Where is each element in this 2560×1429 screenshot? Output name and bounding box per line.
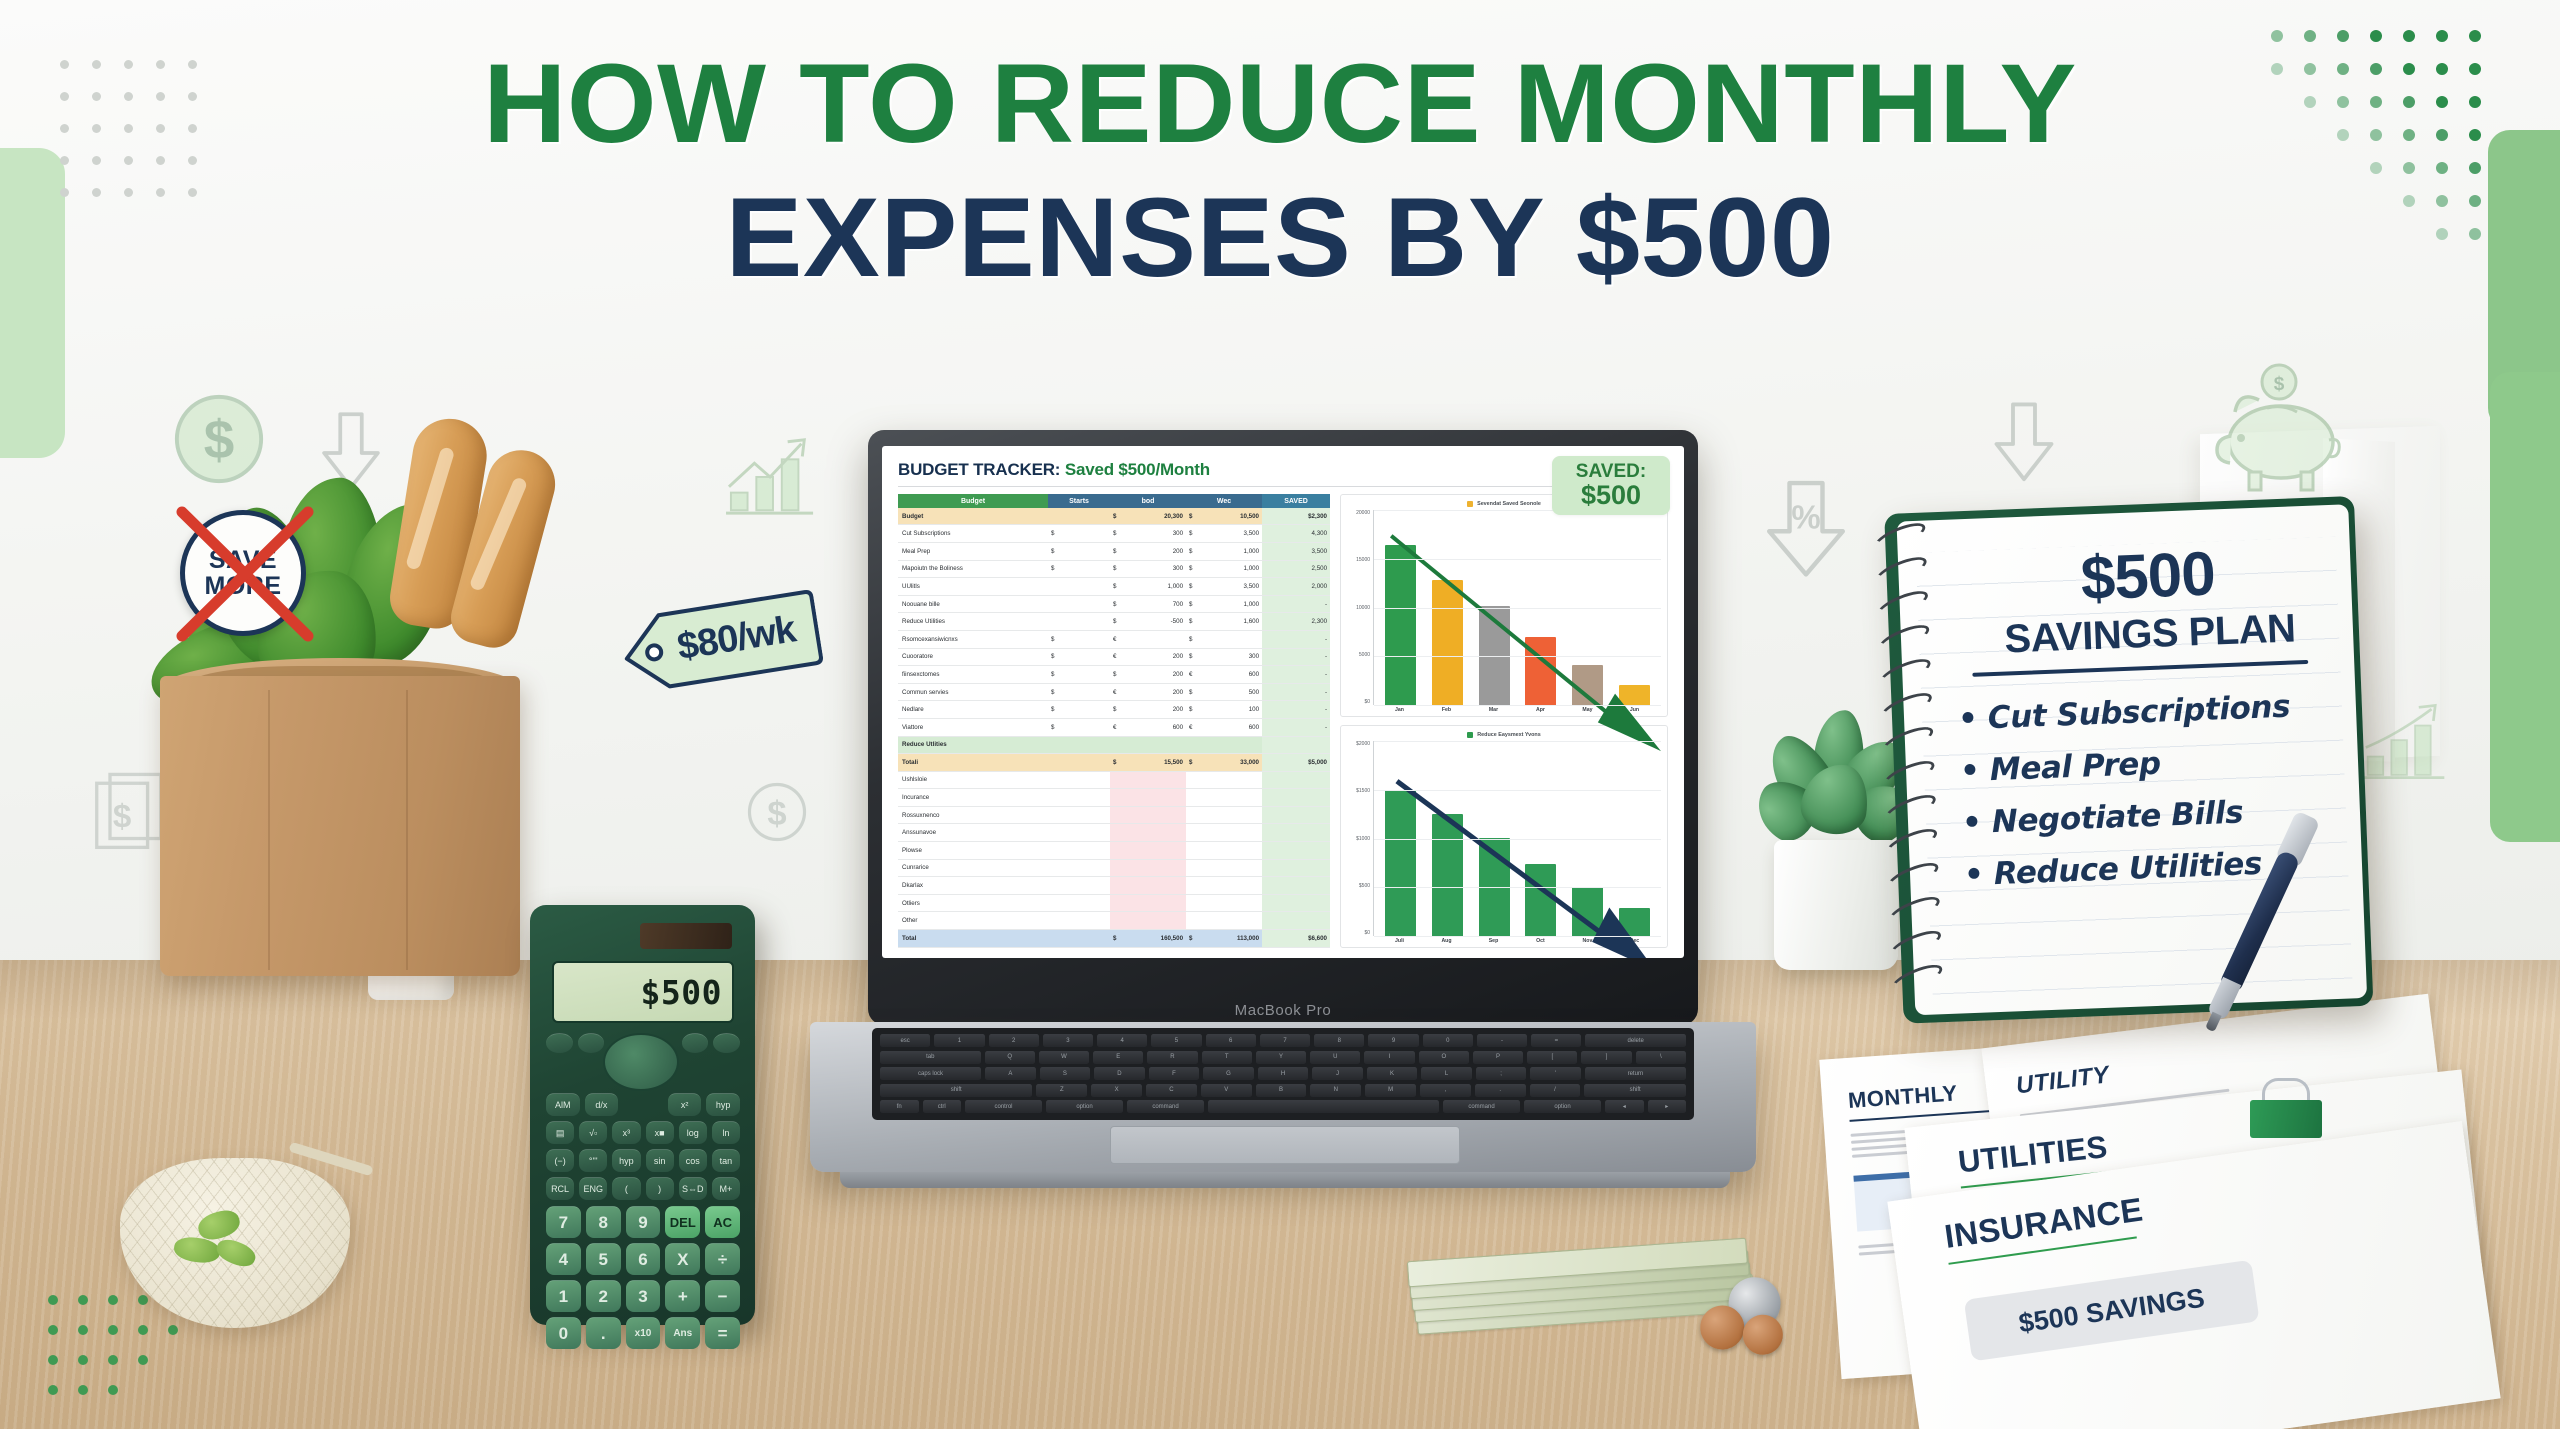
calc-key-ln[interactable]: ln <box>712 1121 740 1144</box>
calc-key-7[interactable]: 7 <box>546 1206 581 1238</box>
chart-reduce-payment[interactable]: Reduce Eaysmext Yvons $2000$1500$1000$50… <box>1340 725 1668 948</box>
table-cell: 600 <box>1124 718 1186 736</box>
calc-key-4[interactable]: 4 <box>546 1243 581 1275</box>
table-cell <box>1200 630 1262 648</box>
chart-2-legend-label: Reduce Eaysmext Yvons <box>1477 732 1540 738</box>
table-cell: UUlitls <box>898 578 1048 596</box>
table-cell: 100 <box>1200 701 1262 719</box>
grid-line <box>1374 936 1661 937</box>
bar-chart-up-icon-2 <box>2360 700 2452 784</box>
calc-key-divide[interactable]: ÷ <box>705 1243 740 1275</box>
table-cell <box>1110 771 1124 789</box>
table-cell: - <box>1262 701 1330 719</box>
grid-line <box>1374 839 1661 840</box>
table-cell <box>1124 894 1186 912</box>
calc-key-minus[interactable]: − <box>705 1280 740 1312</box>
table-cell: Meal Prep <box>898 542 1048 560</box>
calc-key-5[interactable]: 5 <box>586 1243 621 1275</box>
grid-line <box>1374 608 1661 609</box>
bag-fold <box>268 690 270 970</box>
table-cell: $ <box>1186 508 1200 525</box>
table-cell: $ <box>1186 648 1200 666</box>
budget-table[interactable]: BudgetStartsbodWecSAVED Budget$20,300$10… <box>898 494 1330 948</box>
bag-body <box>160 676 520 976</box>
spiral-coil <box>1883 824 1940 861</box>
charts-column: Sevendat Saved Seonole 20000150001000050… <box>1340 494 1668 948</box>
table-cell <box>1048 595 1110 613</box>
table-cell: 1,000 <box>1200 560 1262 578</box>
table-row[interactable]: Totali$15,500$33,000$5,000 <box>898 754 1330 772</box>
calc-key-hyp[interactable]: hyp <box>706 1093 740 1116</box>
table-cell <box>1110 877 1124 895</box>
table-cell: fiinsexctomes <box>898 666 1048 684</box>
grid-line <box>1374 559 1661 560</box>
table-cell: 3,500 <box>1262 542 1330 560</box>
laptop-trackpad[interactable] <box>1110 1126 1460 1164</box>
table-cell: $ <box>1110 525 1124 543</box>
table-cell <box>1262 824 1330 842</box>
spiral-coil <box>1885 858 1942 895</box>
table-cell: $ <box>1186 613 1200 631</box>
table-cell <box>1110 806 1124 824</box>
table-cell: Otliers <box>898 894 1048 912</box>
table-cell: 300 <box>1124 560 1186 578</box>
table-row[interactable]: Meal Prep$$200$1,0003,500 <box>898 542 1330 560</box>
spiral-coil <box>1889 960 1946 997</box>
bag-fold <box>406 690 408 970</box>
table-cell: 3,500 <box>1200 525 1262 543</box>
calc-key-frac[interactable]: ▤ <box>546 1121 574 1144</box>
table-cell <box>1048 877 1110 895</box>
table-cell: - <box>1262 648 1330 666</box>
table-cell: - <box>1262 630 1330 648</box>
table-cell <box>1200 789 1262 807</box>
coin-copper-2 <box>1741 1313 1784 1356</box>
table-cell: 3,500 <box>1200 578 1262 596</box>
calc-key-equals[interactable]: = <box>705 1317 740 1349</box>
calc-key-paren-open[interactable]: ( <box>612 1177 640 1200</box>
spreadsheet-body: BudgetStartsbodWecSAVED Budget$20,300$10… <box>898 494 1668 948</box>
laptop-base: esc1234567890-=delete tabQWERTYUIOP[]\ c… <box>810 1022 1756 1172</box>
table-cell: 33,000 <box>1200 754 1262 772</box>
mesh-produce-bag <box>100 1130 390 1340</box>
table-row[interactable]: UUlitls$1,000$3,5002,000 <box>898 578 1330 596</box>
calc-key-sqrt[interactable]: √▫ <box>579 1121 607 1144</box>
calc-key-del[interactable]: DEL <box>665 1206 700 1238</box>
table-header-row: BudgetStartsbodWecSAVED <box>898 494 1330 508</box>
chart-2-yaxis: $2000$1500$1000$500$0 <box>1347 741 1373 936</box>
table-cell <box>1048 930 1110 948</box>
y-tick-label: $1500 <box>1347 788 1370 794</box>
saved-badge: SAVED: $500 <box>1552 456 1670 515</box>
calc-key-ac[interactable]: AC <box>705 1206 740 1238</box>
table-cell: Cunrarice <box>898 859 1048 877</box>
table-cell <box>1200 842 1262 860</box>
table-cell: - <box>1262 595 1330 613</box>
table-row[interactable]: Dkarlax <box>898 877 1330 895</box>
table-cell: Rsomcexansiwicnxs <box>898 630 1048 648</box>
table-cell <box>1262 859 1330 877</box>
table-cell <box>1048 736 1110 754</box>
table-cell: Mapoiutn the Boliness <box>898 560 1048 578</box>
chart-bar <box>1385 790 1416 936</box>
table-cell: $ <box>1110 578 1124 596</box>
calc-key-mode[interactable] <box>682 1033 709 1053</box>
table-cell: 1,000 <box>1200 595 1262 613</box>
chart-1-yaxis: 2000015000100005000$0 <box>1347 510 1373 705</box>
table-cell <box>1200 806 1262 824</box>
table-cell: $ <box>1110 613 1124 631</box>
table-row[interactable]: Anssunavoe <box>898 824 1330 842</box>
chart-2-plot: $2000$1500$1000$500$0 <box>1347 741 1661 936</box>
table-cell <box>1186 842 1200 860</box>
table-cell <box>1110 824 1124 842</box>
table-cell <box>1200 894 1262 912</box>
spiral-coil <box>1874 586 1931 623</box>
table-row[interactable]: fiinsexctomes$$200€600- <box>898 666 1330 684</box>
chart-bar <box>1432 814 1463 936</box>
table-cell: 200 <box>1124 648 1186 666</box>
spiral-coil <box>1877 654 1934 691</box>
table-row[interactable]: Budget$20,300$10,500$2,300 <box>898 508 1330 525</box>
table-cell: 700 <box>1124 595 1186 613</box>
spiral-coil <box>1882 790 1939 827</box>
table-header-0: Budget <box>898 494 1048 508</box>
table-cell: Cut Subscriptions <box>898 525 1048 543</box>
calc-key-hyp2[interactable]: hyp <box>612 1149 640 1172</box>
table-row[interactable]: Nedlare$$200$100- <box>898 701 1330 719</box>
calc-key-tan[interactable]: tan <box>712 1149 740 1172</box>
calc-key-neg[interactable]: (−) <box>546 1149 574 1172</box>
table-cell: Commun servies <box>898 683 1048 701</box>
table-cell <box>1048 912 1110 930</box>
spiral-coil <box>1876 620 1933 657</box>
calc-key-6[interactable]: 6 <box>626 1243 661 1275</box>
grid-line <box>1374 741 1661 742</box>
calc-key-dx[interactable]: d/x <box>585 1093 619 1116</box>
calculator-keypad[interactable]: AlM d/x x² hyp ▤ √▫ x³ x■ log ln (−) °''… <box>546 1033 740 1354</box>
calc-key-2[interactable]: 2 <box>586 1280 621 1312</box>
table-cell <box>1186 877 1200 895</box>
chart-bar <box>1525 864 1556 936</box>
headline-line-2: EXPENSES BY $500 <box>0 182 2560 294</box>
calc-key-ans[interactable]: Ans <box>665 1317 700 1349</box>
table-cell <box>1048 613 1110 631</box>
x-tick-label: Oct <box>1525 938 1556 944</box>
table-cell <box>1262 789 1330 807</box>
calc-key-alm[interactable]: AlM <box>546 1093 580 1116</box>
calc-key-alpha[interactable] <box>578 1033 605 1053</box>
calc-key-dot[interactable]: . <box>586 1317 621 1349</box>
table-cell: $ <box>1048 525 1110 543</box>
spiral-coil <box>1887 926 1944 963</box>
table-cell: 200 <box>1124 542 1186 560</box>
table-cell: Other <box>898 912 1048 930</box>
grid-line <box>1374 887 1661 888</box>
table-cell <box>1110 912 1124 930</box>
table-cell: 500 <box>1200 683 1262 701</box>
table-cell: 160,500 <box>1124 930 1186 948</box>
table-cell: 20,300 <box>1124 508 1186 525</box>
svg-text:%: % <box>1791 499 1820 536</box>
table-row[interactable]: Plowse <box>898 842 1330 860</box>
table-cell: - <box>1262 683 1330 701</box>
calculator[interactable]: $500 AlM d/x x² hyp ▤ √▫ x³ x■ log ln (−… <box>530 905 755 1325</box>
table-cell <box>1124 912 1186 930</box>
calc-key-xsq[interactable]: x² <box>668 1093 702 1116</box>
laptop: BUDGET TRACKER: Saved $500/Month SAVED: … <box>780 430 1720 1260</box>
table-cell: Dkarlax <box>898 877 1048 895</box>
table-cell: Noouane bille <box>898 595 1048 613</box>
table-row[interactable]: Total$160,500$113,000$6,600 <box>898 930 1330 948</box>
table-cell: $ <box>1186 542 1200 560</box>
table-cell <box>1262 894 1330 912</box>
table-cell <box>1048 578 1110 596</box>
y-tick-label: 15000 <box>1347 557 1370 563</box>
calculator-display-value: $500 <box>641 973 722 1012</box>
chart-bar <box>1619 685 1650 705</box>
laptop-screen[interactable]: BUDGET TRACKER: Saved $500/Month SAVED: … <box>882 446 1684 958</box>
table-cell <box>1048 894 1110 912</box>
table-cell: Budget <box>898 508 1048 525</box>
table-cell <box>1048 508 1110 525</box>
table-row[interactable]: Reduce Utlities <box>898 736 1330 754</box>
table-cell <box>1110 842 1124 860</box>
table-header-3: Wec <box>1186 494 1262 508</box>
table-cell: $5,000 <box>1262 754 1330 772</box>
table-cell: 200 <box>1124 666 1186 684</box>
table-cell <box>1124 859 1186 877</box>
calc-key-sd[interactable]: S⇔D <box>679 1177 707 1200</box>
table-cell <box>1186 894 1200 912</box>
table-cell <box>1186 736 1200 754</box>
table-cell <box>1186 806 1200 824</box>
table-cell <box>1048 789 1110 807</box>
calc-key-dms[interactable]: °''' <box>579 1149 607 1172</box>
table-cell <box>1262 842 1330 860</box>
grid-line <box>1374 790 1661 791</box>
table-cell: 10,500 <box>1200 508 1262 525</box>
calc-key-rcl[interactable]: RCL <box>546 1177 574 1200</box>
chart-bar <box>1572 665 1603 705</box>
table-cell: $ <box>1186 578 1200 596</box>
table-cell: $ <box>1110 542 1124 560</box>
table-cell <box>1124 789 1186 807</box>
cross-out-icon <box>170 498 320 648</box>
table-cell <box>1124 736 1186 754</box>
legend-swatch-icon <box>1467 732 1473 738</box>
chart-2-legend: Reduce Eaysmext Yvons <box>1347 732 1661 738</box>
grid-line <box>1374 705 1661 706</box>
accent-panel-right-mid <box>2490 372 2560 842</box>
x-tick-label: Nov <box>1572 938 1603 944</box>
table-row[interactable]: Other <box>898 912 1330 930</box>
table-cell: 2,500 <box>1262 560 1330 578</box>
calc-key-cos[interactable]: cos <box>679 1149 707 1172</box>
chart-1-plotarea <box>1373 510 1661 705</box>
calc-key-9[interactable]: 9 <box>626 1206 661 1238</box>
table-row[interactable]: Mapoiutn the Boliness$$300$1,0002,500 <box>898 560 1330 578</box>
bills-papers-group: MONTHLY UTILITY UTILITIES INSURANCE $500… <box>1830 1020 2530 1420</box>
table-cell <box>1124 824 1186 842</box>
chart-2-plotarea <box>1373 741 1661 936</box>
laptop-keyboard[interactable]: esc1234567890-=delete tabQWERTYUIOP[]\ c… <box>872 1028 1694 1120</box>
x-tick-label: Aug <box>1431 938 1462 944</box>
svg-text:$: $ <box>2274 374 2285 395</box>
grid-line <box>1374 656 1661 657</box>
spiral-coil <box>1878 688 1935 725</box>
table-cell: 1,600 <box>1200 613 1262 631</box>
table-cell <box>1200 824 1262 842</box>
calc-key-plus[interactable]: + <box>665 1280 700 1312</box>
calc-key-mplus[interactable]: M+ <box>712 1177 740 1200</box>
table-cell: $ <box>1048 683 1110 701</box>
table-cell: 1,000 <box>1124 578 1186 596</box>
table-cell: 2,000 <box>1262 578 1330 596</box>
table-cell: Plowse <box>898 842 1048 860</box>
table-cell: $ <box>1048 648 1110 666</box>
table-cell: - <box>1262 718 1330 736</box>
table-cell <box>1048 842 1110 860</box>
spiral-coil <box>1879 722 1936 759</box>
table-cell: 4,300 <box>1262 525 1330 543</box>
table-cell: $ <box>1186 630 1200 648</box>
table-cell <box>1262 771 1330 789</box>
table-row[interactable]: Viattore$€600€600- <box>898 718 1330 736</box>
table-cell: Total <box>898 930 1048 948</box>
calc-key-on[interactable] <box>713 1033 740 1053</box>
table-cell: $ <box>1186 754 1200 772</box>
y-tick-label: 5000 <box>1347 652 1370 658</box>
calc-key-shift[interactable] <box>546 1033 573 1053</box>
calc-key-paren-close[interactable]: ) <box>646 1177 674 1200</box>
calc-key-exp[interactable]: x10 <box>626 1317 661 1349</box>
table-cell: $ <box>1048 701 1110 719</box>
table-cell: $ <box>1110 754 1124 772</box>
y-tick-label: $500 <box>1347 883 1370 889</box>
table-row[interactable]: Ushlsloie <box>898 771 1330 789</box>
calc-key-pow[interactable]: x■ <box>646 1121 674 1144</box>
table-cell: $ <box>1048 542 1110 560</box>
calc-key-cube[interactable]: x³ <box>612 1121 640 1144</box>
table-cell <box>1262 912 1330 930</box>
calc-key-1[interactable]: 1 <box>546 1280 581 1312</box>
table-cell <box>1110 736 1124 754</box>
table-cell: $6,600 <box>1262 930 1330 948</box>
table-row[interactable]: Commun servies$€200$500- <box>898 683 1330 701</box>
spreadsheet-title-green: Saved $500/Month <box>1065 460 1210 479</box>
table-header-4: SAVED <box>1262 494 1330 508</box>
table-cell <box>1262 806 1330 824</box>
table-cell: € <box>1186 718 1200 736</box>
table-body[interactable]: Budget$20,300$10,500$2,300Cut Subscripti… <box>898 508 1330 948</box>
table-cell: 200 <box>1124 701 1186 719</box>
spiral-coil <box>1881 756 1938 793</box>
calc-key-0[interactable]: 0 <box>546 1317 581 1349</box>
calc-key-3[interactable]: 3 <box>626 1280 661 1312</box>
plant-pot <box>1774 840 1898 970</box>
down-arrow-icon-2 <box>1990 400 2058 488</box>
table-cell <box>1048 806 1110 824</box>
table-cell: $ <box>1048 560 1110 578</box>
table-cell: Nedlare <box>898 701 1048 719</box>
chart-saved-per-month[interactable]: Sevendat Saved Seonole 20000150001000050… <box>1340 494 1668 717</box>
calc-key-8[interactable]: 8 <box>586 1206 621 1238</box>
table-cell: € <box>1110 718 1124 736</box>
table-row[interactable]: Cunrarice <box>898 859 1330 877</box>
table-cell: $ <box>1186 683 1200 701</box>
y-tick-label: $0 <box>1347 930 1370 936</box>
table-cell <box>1186 859 1200 877</box>
table-cell <box>1110 894 1124 912</box>
table-header-1: Starts <box>1048 494 1110 508</box>
savings-plan-notebook: $500 SAVINGS PLAN Cut Subscriptions Meal… <box>1870 496 2380 1034</box>
table-cell: $2,300 <box>1262 508 1330 525</box>
table-cell: € <box>1110 630 1124 648</box>
table-row[interactable]: Incurance <box>898 789 1330 807</box>
x-tick-label: May <box>1572 707 1603 713</box>
table-cell: $ <box>1048 666 1110 684</box>
table-cell <box>1110 859 1124 877</box>
table-cell <box>1124 806 1186 824</box>
table-cell <box>1124 877 1186 895</box>
table-row[interactable]: Cut Subscriptions$$300$3,5004,300 <box>898 525 1330 543</box>
calc-key-sin[interactable]: sin <box>646 1149 674 1172</box>
spiral-coil <box>1873 552 1930 589</box>
table-cell <box>1110 789 1124 807</box>
saved-badge-label: SAVED: <box>1556 462 1666 481</box>
table-cell: $ <box>1110 701 1124 719</box>
headline-block: HOW TO REDUCE MONTHLY EXPENSES BY $500 <box>0 48 2560 294</box>
table-cell: - <box>1262 666 1330 684</box>
calc-key-log[interactable]: log <box>679 1121 707 1144</box>
table-row[interactable]: Reduce Utilities$-500$1,6002,300 <box>898 613 1330 631</box>
chart-1-legend-label: Sevendat Saved Seonole <box>1477 501 1541 507</box>
chart-bar <box>1525 637 1556 705</box>
table-cell: $ <box>1186 595 1200 613</box>
piggy-bank-icon: $ <box>2205 360 2355 510</box>
calc-key-eng[interactable]: ENG <box>579 1177 607 1200</box>
table-row[interactable]: Cuooratore$€200$300- <box>898 648 1330 666</box>
table-row[interactable]: Otliers <box>898 894 1330 912</box>
table-cell: -500 <box>1124 613 1186 631</box>
table-cell: $ <box>1048 630 1110 648</box>
notebook-item-1: Meal Prep <box>1959 746 2161 790</box>
table-cell <box>1124 630 1186 648</box>
table-cell: $ <box>1110 595 1124 613</box>
calculator-solar-panel <box>640 923 732 949</box>
svg-text:$: $ <box>113 798 131 835</box>
chart-1-plot: 2000015000100005000$0 <box>1347 510 1661 705</box>
spreadsheet-title-dark: BUDGET TRACKER: <box>898 460 1060 479</box>
table-cell: $ <box>1110 560 1124 578</box>
table-row[interactable]: Noouane bille$700$1,000- <box>898 595 1330 613</box>
table-row[interactable]: Rsomcexansiwicnxs$€$- <box>898 630 1330 648</box>
table-cell: 113,000 <box>1200 930 1262 948</box>
table-cell: Totali <box>898 754 1048 772</box>
table-cell <box>1186 789 1200 807</box>
table-cell <box>1186 771 1200 789</box>
table-cell: € <box>1110 648 1124 666</box>
calc-key-multiply[interactable]: X <box>665 1243 700 1275</box>
calculator-display: $500 <box>552 961 734 1023</box>
table-cell: Reduce Utilities <box>898 613 1048 631</box>
table-row[interactable]: Rossuxnenco <box>898 806 1330 824</box>
laptop-brand-label: MacBook Pro <box>868 1002 1698 1019</box>
table-cell: 600 <box>1200 666 1262 684</box>
table-cell: $ <box>1110 666 1124 684</box>
table-cell <box>1200 877 1262 895</box>
